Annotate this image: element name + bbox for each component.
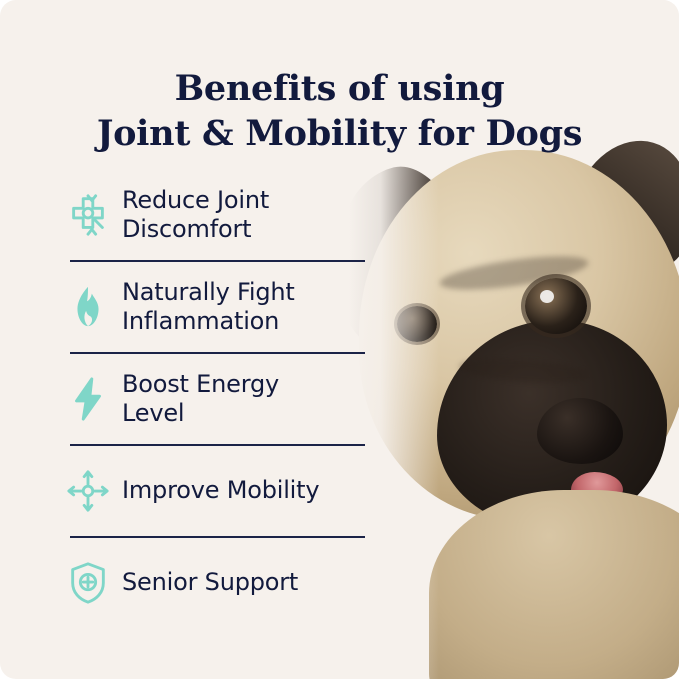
benefit-item-senior-support: Senior Support — [60, 538, 380, 628]
title-line-1: Benefits of using — [175, 68, 505, 109]
benefit-label-line-2: Discomfort — [122, 215, 251, 243]
benefits-list: Reduce Joint Discomfort Naturally Fight … — [60, 170, 380, 628]
benefit-item-naturally-fight-inflammation: Naturally Fight Inflammation — [60, 262, 380, 352]
product-benefits-infographic: Benefits of using Joint & Mobility for D… — [0, 0, 679, 679]
benefit-item-improve-mobility: Improve Mobility — [60, 446, 380, 536]
benefit-label: Improve Mobility — [116, 476, 319, 505]
benefit-label-line-1: Naturally Fight — [122, 278, 295, 306]
flame-icon — [60, 279, 116, 335]
benefit-label-line-1: Boost Energy — [122, 370, 279, 398]
benefit-item-reduce-joint-discomfort: Reduce Joint Discomfort — [60, 170, 380, 260]
benefit-label-line-1: Improve Mobility — [122, 476, 319, 504]
benefit-label: Senior Support — [116, 568, 298, 597]
benefit-label: Reduce Joint Discomfort — [116, 186, 269, 245]
title-line-2: Joint & Mobility for Dogs — [0, 112, 679, 157]
benefit-label-line-1: Reduce Joint — [122, 186, 269, 214]
joint-gear-icon — [60, 187, 116, 243]
mobility-arrows-icon — [60, 463, 116, 519]
benefit-label: Naturally Fight Inflammation — [116, 278, 295, 337]
shield-plus-icon — [60, 555, 116, 611]
benefit-label-line-2: Inflammation — [122, 307, 279, 335]
benefit-item-boost-energy-level: Boost Energy Level — [60, 354, 380, 444]
lightning-bolt-icon — [60, 371, 116, 427]
benefit-label: Boost Energy Level — [116, 370, 279, 429]
benefit-label-line-2: Level — [122, 399, 184, 427]
content-layer: Benefits of using Joint & Mobility for D… — [0, 0, 679, 679]
page-title: Benefits of using Joint & Mobility for D… — [0, 67, 679, 157]
benefit-label-line-1: Senior Support — [122, 568, 298, 596]
